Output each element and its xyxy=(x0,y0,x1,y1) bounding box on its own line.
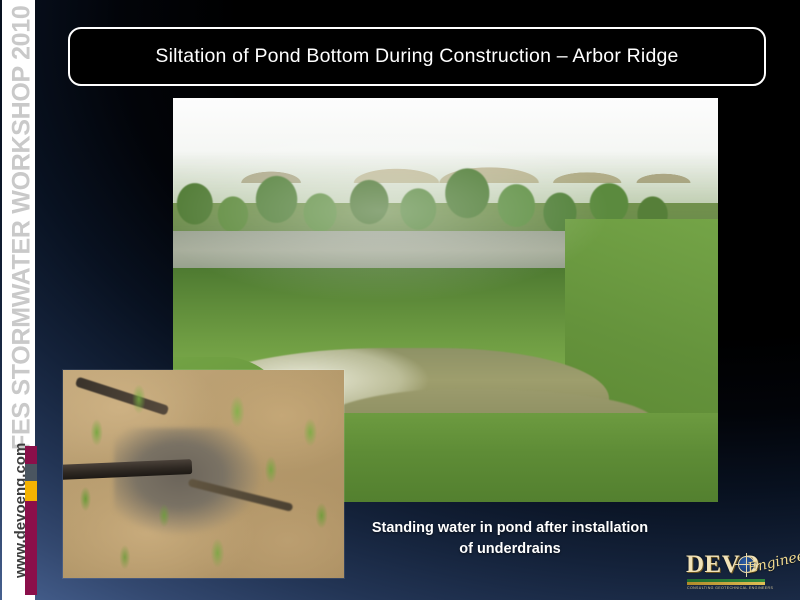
branding-sidebar: FES STORMWATER WORKSHOP 2010 www.devoeng… xyxy=(2,0,35,600)
presentation-slide: FES STORMWATER WORKSHOP 2010 www.devoeng… xyxy=(0,0,800,600)
slide-title-box: Siltation of Pond Bottom During Construc… xyxy=(68,27,766,86)
sidebar-swatch-slate-gray xyxy=(25,464,37,481)
devo-engineering-logo: DEVO Engineering CONSULTING GEOTECHNICAL… xyxy=(686,549,792,595)
underdrain-closeup-photo xyxy=(63,370,344,578)
sidebar-swatch-maroon-top xyxy=(25,446,37,464)
sidebar-workshop-title: FES STORMWATER WORKSHOP 2010 xyxy=(6,0,39,440)
page-title: Siltation of Pond Bottom During Construc… xyxy=(155,45,678,68)
caption-line-1: Standing water in pond after installatio… xyxy=(352,518,668,539)
sidebar-swatch-gold xyxy=(25,481,37,501)
sidebar-swatch-maroon-bottom xyxy=(25,501,37,595)
logo-bar-gold xyxy=(687,582,765,585)
logo-tagline: CONSULTING GEOTECHNICAL ENGINEERS xyxy=(687,586,773,590)
inset-grass-tufts xyxy=(63,370,344,578)
caption-line-2: of underdrains xyxy=(352,539,668,560)
photo-caption: Standing water in pond after installatio… xyxy=(352,518,668,560)
